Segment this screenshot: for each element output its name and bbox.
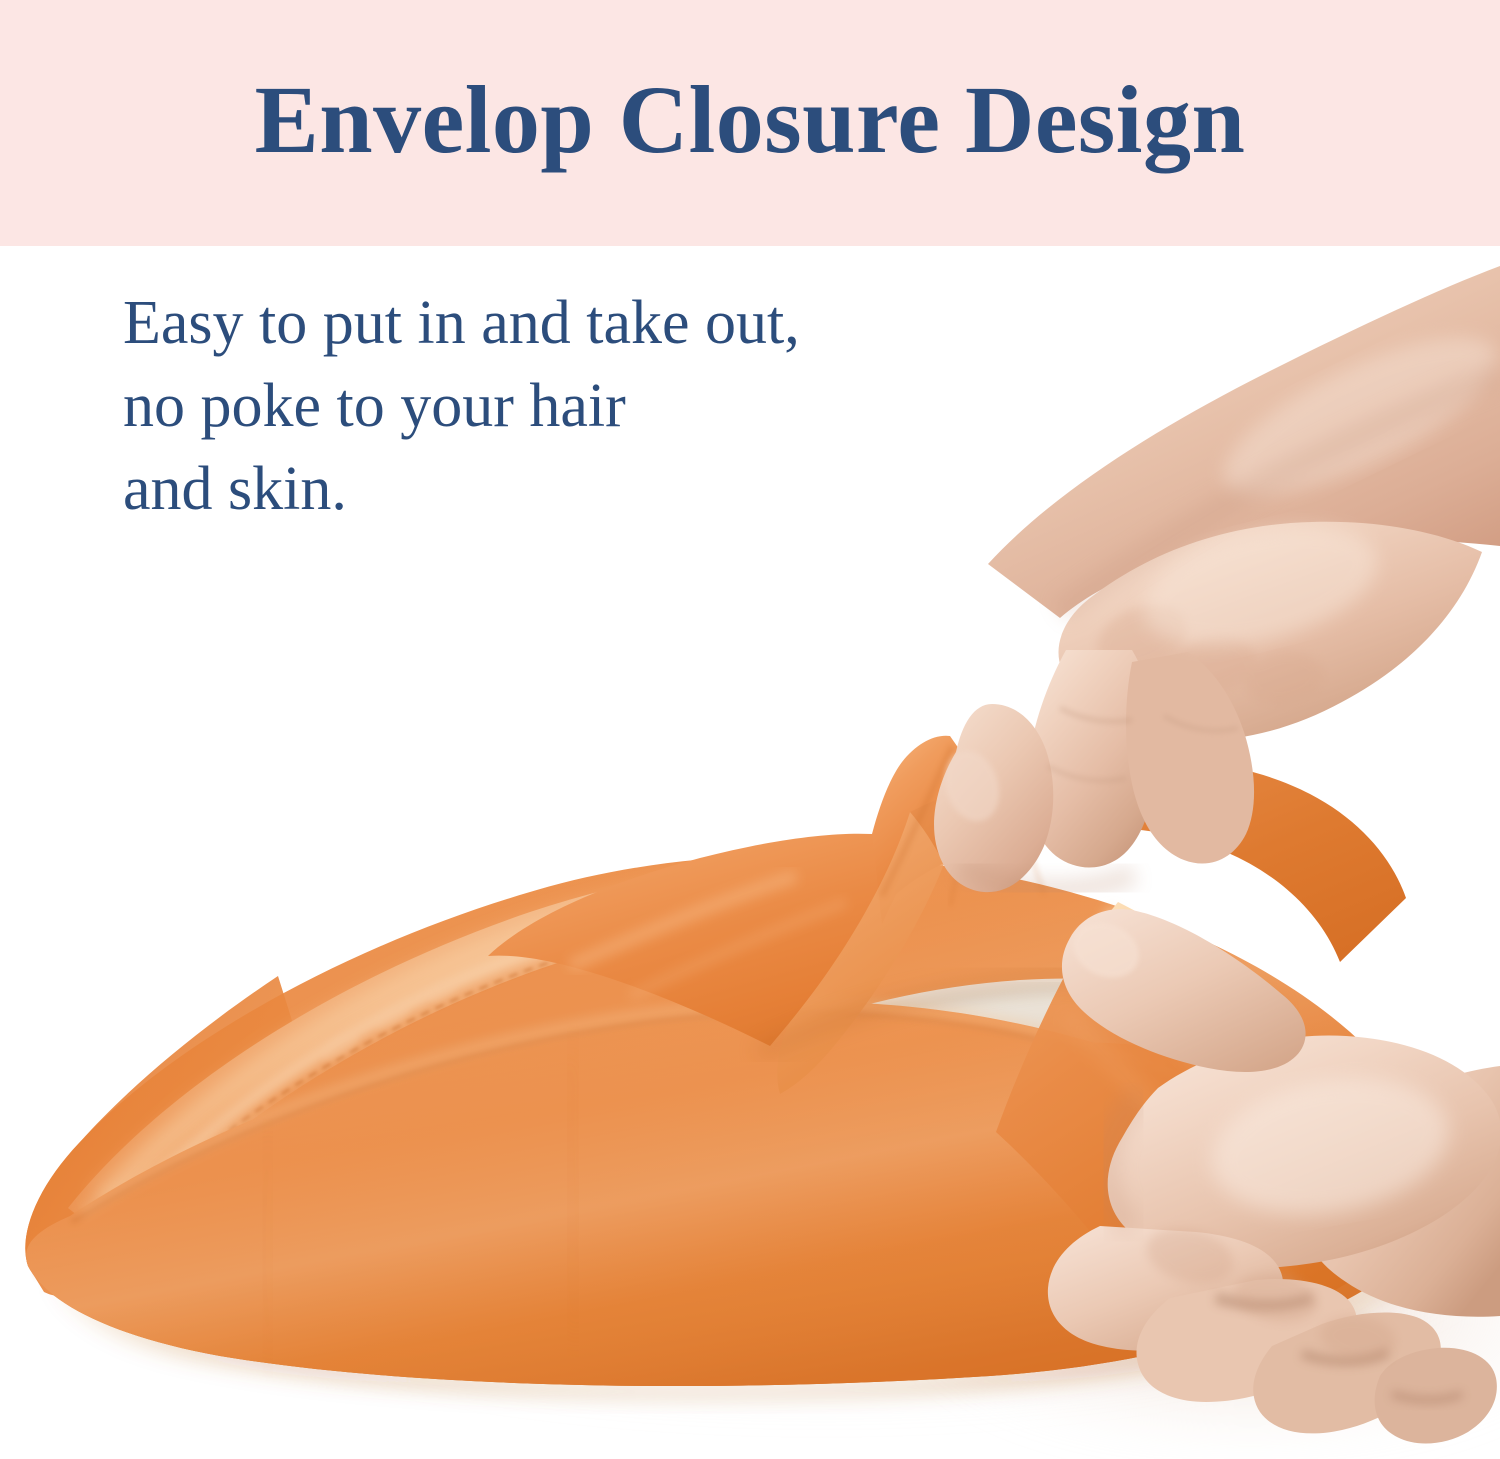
product-feature-image: Envelop Closure Design Easy to put in an… <box>0 0 1500 1459</box>
product-photo: Easy to put in and take out, no poke to … <box>0 246 1500 1459</box>
hand-gripping-pillow <box>1040 846 1500 1459</box>
pillow-front-crease-2 <box>263 1136 272 1360</box>
feature-caption: Easy to put in and take out, no poke to … <box>123 282 800 531</box>
title-banner: Envelop Closure Design <box>0 0 1500 246</box>
hand-pinching-flap <box>760 246 1500 946</box>
page-title: Envelop Closure Design <box>255 72 1246 174</box>
pillow-front-crease <box>568 1046 578 1336</box>
